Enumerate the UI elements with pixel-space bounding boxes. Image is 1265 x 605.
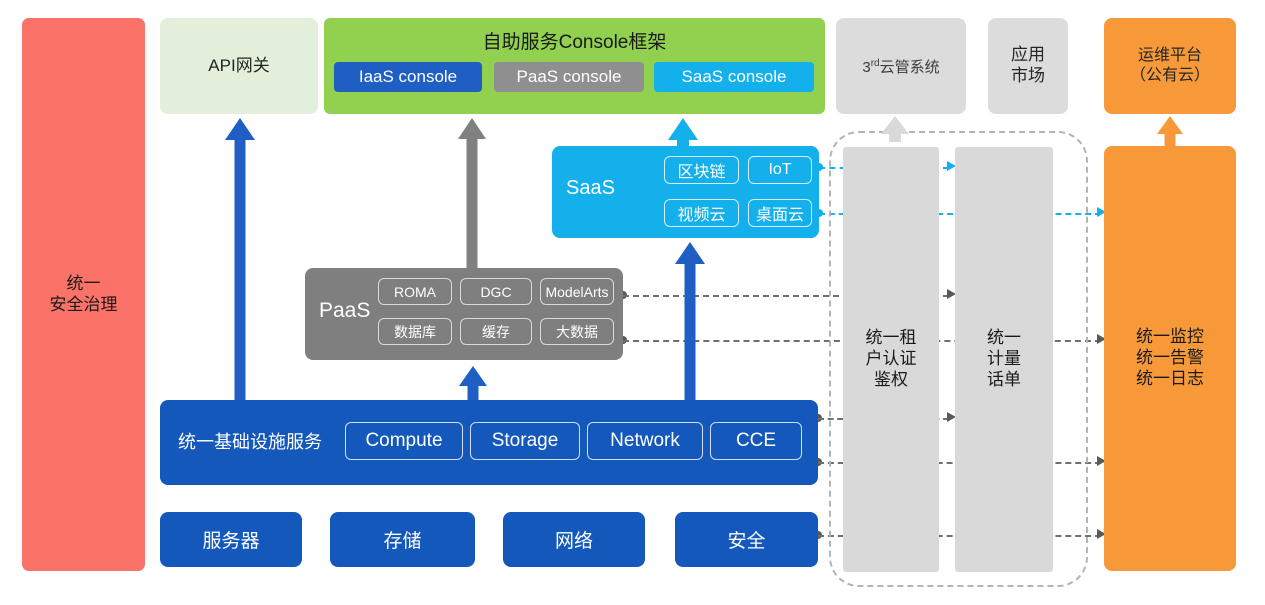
paas-layer-box[interactable]: PaaS ROMA DGC ModelArts 数据库 缓存 大数据 xyxy=(305,268,623,360)
paas-chip-bigdata[interactable]: 大数据 xyxy=(540,318,614,345)
paas-chip-roma-label: ROMA xyxy=(394,284,436,300)
paas-chip-database-label: 数据库 xyxy=(394,322,436,342)
iaas-chip-compute[interactable]: Compute xyxy=(345,422,463,460)
hardware-box-storage-label: 存储 xyxy=(383,526,421,553)
ops-platform-column[interactable]: 统一监控 统一告警 统一日志 xyxy=(1104,146,1236,571)
saas-chip-blockchain-label: 区块链 xyxy=(677,158,725,182)
paas-console-label: PaaS console xyxy=(517,67,622,87)
hardware-box-storage[interactable]: 存储 xyxy=(330,512,475,567)
saas-console-label: SaaS console xyxy=(682,67,787,87)
saas-chip-iot[interactable]: IoT xyxy=(748,156,812,184)
iaas-chip-storage[interactable]: Storage xyxy=(470,422,580,460)
paas-chip-cache[interactable]: 缓存 xyxy=(460,318,532,345)
paas-to-console-arrow xyxy=(458,118,486,270)
paas-console-chip[interactable]: PaaS console xyxy=(494,62,644,92)
iaas-chip-network-label: Network xyxy=(610,430,680,452)
unified-security-governance-panel[interactable]: 统一 安全治理 xyxy=(22,18,145,571)
ops-platform-top-label: 运维平台 （公有云） xyxy=(1130,46,1210,85)
paas-chip-modelarts-label: ModelArts xyxy=(545,284,608,300)
iaas-chip-compute-label: Compute xyxy=(365,430,442,452)
app-market-box[interactable]: 应用 市场 xyxy=(988,18,1068,114)
self-service-console-frame[interactable]: 自助服务Console框架 IaaS console PaaS console … xyxy=(324,18,825,114)
saas-chip-iot-label: IoT xyxy=(768,161,791,179)
api-gateway-box[interactable]: API网关 xyxy=(160,18,318,114)
saas-to-console-arrow xyxy=(668,118,698,148)
iaas-chip-storage-label: Storage xyxy=(492,430,559,452)
iaas-console-chip[interactable]: IaaS console xyxy=(334,62,482,92)
to-ops-platform-arrow xyxy=(1157,116,1183,147)
iaas-to-paas-arrow xyxy=(459,366,487,402)
unified-tenant-auth-column[interactable]: 统一租 户认证 鉴权 xyxy=(843,147,939,572)
saas-layer-box[interactable]: SaaS 区块链 IoT 视频云 桌面云 xyxy=(552,146,819,238)
console-frame-title: 自助服务Console框架 xyxy=(324,27,825,54)
third-party-cloud-mgmt-box[interactable]: 3rd云管系统 xyxy=(836,18,966,114)
unified-metering-label: 统一 计量 话单 xyxy=(987,328,1021,390)
saas-chip-blockchain[interactable]: 区块链 xyxy=(664,156,739,184)
unified-tenant-auth-label: 统一租 户认证 鉴权 xyxy=(866,328,917,390)
paas-chip-bigdata-label: 大数据 xyxy=(556,322,598,342)
saas-layer-label: SaaS xyxy=(566,177,615,200)
ops-platform-top-box[interactable]: 运维平台 （公有云） xyxy=(1104,18,1236,114)
unified-security-governance-label: 统一 安全治理 xyxy=(50,274,118,315)
hardware-box-security[interactable]: 安全 xyxy=(675,512,818,567)
unified-infrastructure-service-bar[interactable]: 统一基础设施服务 Compute Storage Network CCE xyxy=(160,400,818,485)
third-party-prefix: 3 xyxy=(862,59,870,76)
paas-chip-roma[interactable]: ROMA xyxy=(378,278,452,305)
iaas-console-label: IaaS console xyxy=(359,67,457,87)
saas-chip-desktop-cloud[interactable]: 桌面云 xyxy=(748,199,812,227)
hardware-box-network[interactable]: 网络 xyxy=(503,512,645,567)
iaas-to-api-gateway-arrow xyxy=(225,118,255,402)
hardware-box-network-label: 网络 xyxy=(555,526,593,553)
unified-metering-column[interactable]: 统一 计量 话单 xyxy=(955,147,1053,572)
hardware-box-server-label: 服务器 xyxy=(202,526,259,553)
paas-chip-dgc-label: DGC xyxy=(480,284,511,300)
saas-chip-video-cloud-label: 视频云 xyxy=(677,201,725,225)
paas-chip-cache-label: 缓存 xyxy=(482,322,510,342)
app-market-label: 应用 市场 xyxy=(1011,45,1045,86)
api-gateway-label: API网关 xyxy=(208,56,269,77)
saas-console-chip[interactable]: SaaS console xyxy=(654,62,814,92)
to-third-party-arrow xyxy=(881,116,909,142)
iaas-chip-network[interactable]: Network xyxy=(587,422,703,460)
paas-layer-label: PaaS xyxy=(319,299,370,323)
saas-chip-desktop-cloud-label: 桌面云 xyxy=(756,201,804,225)
iaas-to-saas-arrow xyxy=(675,242,705,402)
architecture-diagram: 统一租 户认证 鉴权 统一 计量 话单 统一 安全治理 xyxy=(0,0,1265,605)
hardware-box-security-label: 安全 xyxy=(727,526,765,553)
paas-chip-database[interactable]: 数据库 xyxy=(378,318,452,345)
third-party-suffix: 云管系统 xyxy=(880,59,940,76)
paas-chip-dgc[interactable]: DGC xyxy=(460,278,532,305)
hardware-box-server[interactable]: 服务器 xyxy=(160,512,302,567)
ops-platform-column-label: 统一监控 统一告警 统一日志 xyxy=(1136,327,1204,389)
unified-infrastructure-service-label: 统一基础设施服务 xyxy=(178,428,322,454)
saas-chip-video-cloud[interactable]: 视频云 xyxy=(664,199,739,227)
paas-chip-modelarts[interactable]: ModelArts xyxy=(540,278,614,305)
third-party-cloud-mgmt-label: 3rd云管系统 xyxy=(862,56,939,77)
third-party-ordinal-suffix: rd xyxy=(871,58,880,69)
iaas-chip-cce-label: CCE xyxy=(736,430,776,452)
iaas-chip-cce[interactable]: CCE xyxy=(710,422,802,460)
